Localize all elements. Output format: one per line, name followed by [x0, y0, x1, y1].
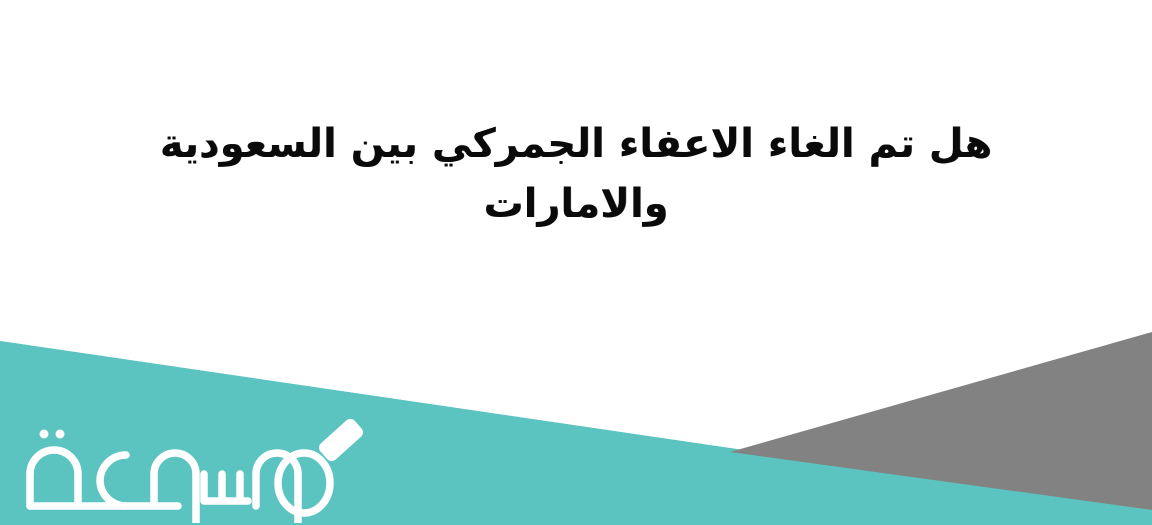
logo-glyph-ain — [100, 455, 126, 506]
article-thumbnail-card: هل تم الغاء الاعفاء الجمركي بين السعودية… — [0, 0, 1152, 525]
logo[interactable]: موسوعة — [8, 411, 368, 523]
logo-graphic[interactable] — [8, 411, 368, 523]
magnifying-glass-icon — [317, 416, 366, 463]
gray-triangle-shape — [730, 332, 1152, 510]
logo-dots — [40, 430, 65, 439]
logo-wordmark — [30, 450, 330, 523]
logo-glyph-waw-1 — [154, 453, 196, 523]
logo-glyph-ta-marbuta — [30, 450, 78, 506]
logo-glyph-meem-lens — [278, 453, 330, 513]
headline-container: هل تم الغاء الاعفاء الجمركي بين السعودية… — [0, 0, 1152, 330]
page-title: هل تم الغاء الاعفاء الجمركي بين السعودية… — [124, 114, 1029, 234]
logo-glyph-seen — [204, 474, 248, 501]
